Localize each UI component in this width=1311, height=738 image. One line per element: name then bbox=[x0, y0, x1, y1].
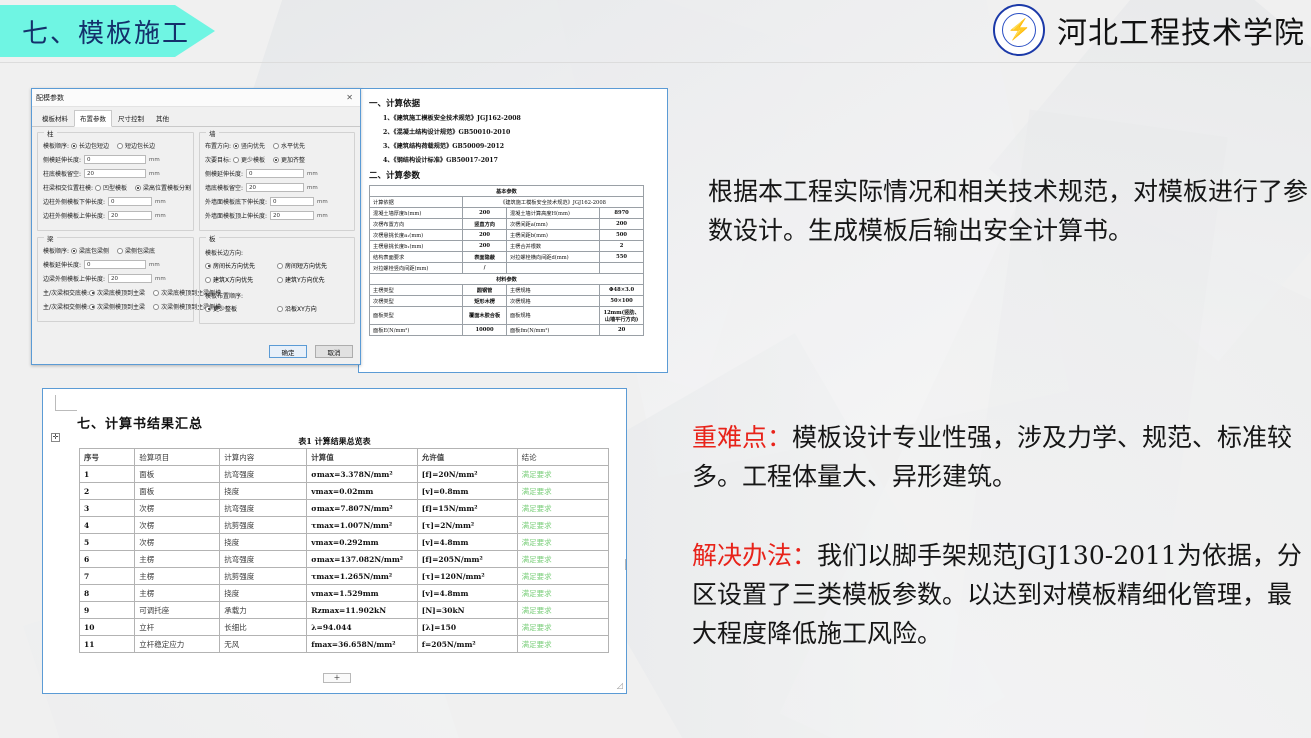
results-summary-table: 序号 验算项目 计算内容 计算值 允许值 结论 1 面板 抗弯强度 σmax=3… bbox=[79, 448, 609, 653]
param-value: 12mm(竖肋、山墙平行方向) bbox=[600, 307, 644, 325]
unit-mm: mm bbox=[307, 185, 318, 191]
unit-mm: mm bbox=[155, 213, 166, 219]
column-group-caption: 柱 bbox=[44, 128, 57, 138]
cell-calc: τmax=1.265N/mm² bbox=[307, 568, 417, 585]
param-key: 主楞规格 bbox=[506, 285, 599, 296]
param-key: 主楞悬挑长度b₁(mm) bbox=[370, 241, 463, 252]
calculation-document-panel[interactable]: 一、计算依据 1、《建筑施工模板安全技术规范》JGJ162-2008 2、《混凝… bbox=[358, 88, 668, 373]
param-key: 次楞类型 bbox=[370, 296, 463, 307]
radio-dot-icon bbox=[233, 143, 239, 149]
difficulty-label: 重难点： bbox=[692, 423, 792, 452]
radio-dot-icon bbox=[273, 157, 279, 163]
wall-bottom-gap-input[interactable]: 20 bbox=[246, 183, 304, 192]
note-paragraph-3: 解决办法：我们以脚手架规范JGJ130-2011为依据，分区设置了三类模板参数。… bbox=[692, 536, 1310, 653]
cell-no: 5 bbox=[80, 534, 135, 551]
beam-bottom-relation-row: 主/次梁相交底模: 次梁底模顶到主梁 次梁底模顶到主梁侧模 bbox=[43, 288, 188, 297]
close-icon[interactable]: ✕ bbox=[343, 93, 356, 102]
radio-more-aligned[interactable]: 更加齐整 bbox=[273, 155, 305, 164]
cell-no: 8 bbox=[80, 585, 135, 602]
summary-heading: 七、计算书结果汇总 bbox=[77, 413, 604, 432]
wall-group-caption: 墙 bbox=[206, 128, 219, 138]
cell-allow: [v]=0.8mm bbox=[417, 483, 517, 500]
param-key: 结构表面要求 bbox=[370, 252, 463, 263]
radio-concave-template[interactable]: 凹型模板 bbox=[95, 183, 127, 192]
column-beam-joint-label: 柱梁相交位置柱模: bbox=[43, 183, 93, 192]
edge-beam-up-label: 边梁外侧模板上伸长度: bbox=[43, 274, 105, 283]
cell-calc: λ=94.044 bbox=[307, 619, 417, 636]
cell-no: 7 bbox=[80, 568, 135, 585]
radio-dot-icon bbox=[277, 263, 283, 269]
param-value: 2 bbox=[600, 241, 644, 252]
radio-fewer-whole-panels[interactable]: 更少整板 bbox=[205, 304, 277, 313]
param-value: 8970 bbox=[600, 208, 644, 219]
cell-content: 长细比 bbox=[220, 619, 307, 636]
radio-short-wraps-long[interactable]: 短边包长边 bbox=[117, 141, 155, 150]
calc-params-heading: 二、计算参数 bbox=[369, 169, 657, 181]
wall-secondary-goal-row: 次要目标: 更少模板 更加齐整 bbox=[205, 155, 349, 164]
cell-allow: [f]=20N/mm² bbox=[417, 466, 517, 483]
cell-content: 挠度 bbox=[220, 585, 307, 602]
section-title-banner: 七、模板施工 bbox=[0, 5, 215, 57]
wall-side-extend-row: 侧模延伸长度: 0 mm bbox=[205, 169, 349, 178]
cell-conclusion: 满足要求 bbox=[517, 551, 608, 568]
cell-item: 面板 bbox=[135, 483, 220, 500]
exterior-wall-up-row: 外墙面模板顶上伸长度: 20 mm bbox=[205, 211, 349, 220]
table-row: 主楞悬挑长度b₁(mm) 200 主楞合并根数 2 bbox=[370, 241, 644, 252]
col-header-item: 验算项目 bbox=[135, 449, 220, 466]
cell-allow: [N]=30kN bbox=[417, 602, 517, 619]
table-row: 计算依据 《建筑施工模板安全技术规范》JGJ162-2008 bbox=[370, 197, 644, 208]
column-bottom-gap-row: 柱底模板留空: 20 mm bbox=[43, 169, 188, 178]
radio-room-short-first[interactable]: 房间短方向优先 bbox=[277, 261, 349, 270]
solution-label: 解决办法： bbox=[692, 541, 817, 570]
param-value: 矩形木楞 bbox=[463, 296, 507, 307]
cell-item: 面板 bbox=[135, 466, 220, 483]
cell-item: 主楞 bbox=[135, 585, 220, 602]
radio-dot-icon bbox=[71, 248, 77, 254]
beam-order-label: 模板顺序: bbox=[43, 246, 69, 255]
slab-order-options[interactable]: 更少整板 沿板XY方向 bbox=[205, 304, 349, 318]
cell-content: 抗弯强度 bbox=[220, 551, 307, 568]
param-key: 面板E(N/mm²) bbox=[370, 325, 463, 336]
ok-button[interactable]: 确定 bbox=[269, 345, 307, 358]
calc-basis-heading: 一、计算依据 bbox=[369, 97, 657, 109]
param-key: 对拉螺栓横向间距d(mm) bbox=[506, 252, 599, 263]
param-value: 550 bbox=[600, 252, 644, 263]
cell-no: 11 bbox=[80, 636, 135, 653]
beam-bottom-relation-label: 主/次梁相交底模: bbox=[43, 288, 89, 297]
calc-basis-item: 4、《钢结构设计标准》GB50017-2017 bbox=[383, 155, 657, 164]
beam-extend-input[interactable]: 0 bbox=[84, 260, 146, 269]
cell-no: 3 bbox=[80, 500, 135, 517]
column-group: 柱 模板顺序: 长边包短边 短边包长边 侧模延伸长度: 0 mm 柱底模板留空:… bbox=[37, 132, 194, 231]
edge-column-up-input[interactable]: 20 bbox=[108, 211, 152, 220]
cell-conclusion: 满足要求 bbox=[517, 500, 608, 517]
note-paragraph-2: 重难点：模板设计专业性强，涉及力学、规范、标准较多。工程体量大、异形建筑。 bbox=[692, 418, 1310, 496]
cell-allow: f=205N/mm² bbox=[417, 636, 517, 653]
column-beam-joint-row: 柱梁相交位置柱模: 凹型模板 梁高位置模板分割 bbox=[43, 183, 188, 192]
page-corner-mark bbox=[55, 395, 77, 411]
cell-conclusion: 满足要求 bbox=[517, 636, 608, 653]
table-row: 次楞布置方向 竖直方向 次楞间距a(mm) 200 bbox=[370, 219, 644, 230]
radio-along-slab-xy[interactable]: 沿板XY方向 bbox=[277, 304, 349, 313]
table-row: 主楞类型 圆钢管 主楞规格 Φ48×3.0 bbox=[370, 285, 644, 296]
column-side-extend-label: 侧模延伸长度: bbox=[43, 155, 81, 164]
cell-conclusion: 满足要求 bbox=[517, 619, 608, 636]
col-header-conclusion: 结论 bbox=[517, 449, 608, 466]
radio-dot-icon bbox=[117, 143, 123, 149]
table-row: 9 可调托座 承载力 Rzmax=11.902kN [N]=30kN 满足要求 bbox=[80, 602, 609, 619]
table-row: 6 主楞 抗弯强度 σmax=137.082N/mm² [f]=205N/mm²… bbox=[80, 551, 609, 568]
table-row: 混凝土墙厚度h(mm) 200 混凝土墙计算高度H(mm) 8970 bbox=[370, 208, 644, 219]
col-header-calc: 计算值 bbox=[307, 449, 417, 466]
cell-conclusion: 满足要求 bbox=[517, 466, 608, 483]
col-header-content: 计算内容 bbox=[220, 449, 307, 466]
column-order-label: 模板顺序: bbox=[43, 141, 69, 150]
param-key: 面板fm(N/mm²) bbox=[506, 325, 599, 336]
table-row: 次楞悬挑长度a₁(mm) 200 主楞间距b(mm) 500 bbox=[370, 230, 644, 241]
param-value: 圆钢管 bbox=[463, 285, 507, 296]
radio-side-wraps-bottom[interactable]: 梁侧包梁底 bbox=[117, 246, 155, 255]
param-value bbox=[600, 263, 644, 274]
param-key: 对拉螺栓竖向间距(mm) bbox=[370, 263, 463, 274]
beam-group: 梁 模板顺序: 梁底包梁侧 梁侧包梁底 模板延伸长度: 0 mm 边梁外侧模板上… bbox=[37, 237, 194, 322]
table-row: 基本参数 bbox=[370, 186, 644, 197]
beam-extend-row: 模板延伸长度: 0 mm bbox=[43, 260, 188, 269]
param-key: 混凝土墙计算高度H(mm) bbox=[506, 208, 599, 219]
wall-secondary-goal-label: 次要目标: bbox=[205, 155, 231, 164]
cell-item: 立杆稳定应力 bbox=[135, 636, 220, 653]
radio-dot-icon bbox=[205, 277, 211, 283]
cell-item: 可调托座 bbox=[135, 602, 220, 619]
slab-direction-options[interactable]: 房间长方向优先 房间短方向优先 建筑X方向优先 建筑Y方向优先 bbox=[205, 261, 349, 289]
param-key: 主楞合并根数 bbox=[506, 241, 599, 252]
table-row: 3 次楞 抗弯强度 σmax=7.807N/mm² [f]=15N/mm² 满足… bbox=[80, 500, 609, 517]
exterior-wall-down-input[interactable]: 0 bbox=[270, 197, 314, 206]
column-side-extend-row: 侧模延伸长度: 0 mm bbox=[43, 155, 188, 164]
exterior-wall-up-input[interactable]: 20 bbox=[270, 211, 314, 220]
wall-side-extend-input[interactable]: 0 bbox=[246, 169, 304, 178]
unit-mm: mm bbox=[149, 157, 160, 163]
cell-no: 10 bbox=[80, 619, 135, 636]
table-row: 1 面板 抗弯强度 σmax=3.378N/mm² [f]=20N/mm² 满足… bbox=[80, 466, 609, 483]
column-bottom-gap-label: 柱底模板留空: bbox=[43, 169, 81, 178]
param-value: Φ48×3.0 bbox=[600, 285, 644, 296]
param-key: 主楞类型 bbox=[370, 285, 463, 296]
edge-column-up-row: 边柱外侧模板上伸长度: 20 mm bbox=[43, 211, 188, 220]
radio-building-y-first[interactable]: 建筑Y方向优先 bbox=[277, 275, 349, 284]
wall-bottom-gap-label: 墙底模板留空: bbox=[205, 183, 243, 192]
tab-dimension-control[interactable]: 尺寸控制 bbox=[112, 110, 150, 126]
col-header-allow: 允许值 bbox=[417, 449, 517, 466]
cell-allow: [τ]=120N/mm² bbox=[417, 568, 517, 585]
radio-dot-icon bbox=[273, 143, 279, 149]
table-row: 结构表面要求 表面隐蔽 对拉螺栓横向间距d(mm) 550 bbox=[370, 252, 644, 263]
param-key: 次楞间距a(mm) bbox=[506, 219, 599, 230]
radio-sec-side-to-main[interactable]: 次梁侧模顶到主梁 bbox=[89, 302, 145, 311]
tab-other[interactable]: 其他 bbox=[150, 110, 175, 126]
cell-item: 次楞 bbox=[135, 500, 220, 517]
table-row: 材料参数 bbox=[370, 274, 644, 285]
table-move-handle-icon[interactable]: ✛ bbox=[51, 433, 60, 442]
unit-mm: mm bbox=[155, 199, 166, 205]
summary-document-panel[interactable]: 七、计算书结果汇总 表1 计算结果总览表 ✛ 序号 验算项目 计算内容 计算值 … bbox=[42, 388, 627, 694]
tab-template-material[interactable]: 模板材料 bbox=[36, 110, 74, 126]
cell-calc: τmax=1.007N/mm² bbox=[307, 517, 417, 534]
summary-inner: 七、计算书结果汇总 表1 计算结果总览表 ✛ 序号 验算项目 计算内容 计算值 … bbox=[43, 389, 626, 653]
cell-calc: σmax=7.807N/mm² bbox=[307, 500, 417, 517]
radio-dot-icon bbox=[95, 185, 101, 191]
radio-dot-icon bbox=[205, 306, 211, 312]
table-row: 8 主楞 挠度 vmax=1.529mm [v]=4.8mm 满足要求 bbox=[80, 585, 609, 602]
calculation-parameters-table: 基本参数 计算依据 《建筑施工模板安全技术规范》JGJ162-2008 混凝土墙… bbox=[369, 185, 644, 336]
radio-long-wraps-short[interactable]: 长边包短边 bbox=[71, 141, 109, 150]
cell-content: 无风 bbox=[220, 636, 307, 653]
cell-calc: vmax=0.02mm bbox=[307, 483, 417, 500]
calc-basis-item: 2、《混凝土结构设计规范》GB50010-2010 bbox=[383, 127, 657, 136]
cell-item: 次楞 bbox=[135, 517, 220, 534]
slab-group: 板 模板长边方向: 房间长方向优先 房间短方向优先 建筑X方向优先 建筑Y方向优… bbox=[199, 237, 355, 324]
param-value: 500 bbox=[600, 230, 644, 241]
radio-dot-icon bbox=[117, 248, 123, 254]
param-key: 混凝土墙厚度h(mm) bbox=[370, 208, 463, 219]
cell-conclusion: 满足要求 bbox=[517, 483, 608, 500]
basis-key: 计算依据 bbox=[370, 197, 463, 208]
cell-conclusion: 满足要求 bbox=[517, 585, 608, 602]
cell-no: 9 bbox=[80, 602, 135, 619]
section-material-params: 材料参数 bbox=[370, 274, 644, 285]
edge-column-up-label: 边柱外侧模板上伸长度: bbox=[43, 211, 105, 220]
cell-calc: fmax=36.658N/mm² bbox=[307, 636, 417, 653]
param-value: 200 bbox=[463, 208, 507, 219]
param-key bbox=[506, 263, 599, 274]
calc-basis-item: 3、《建筑结构荷载规范》GB50009-2012 bbox=[383, 141, 657, 150]
cell-calc: vmax=1.529mm bbox=[307, 585, 417, 602]
calc-basis-item: 1、《建筑施工模板安全技术规范》JGJ162-2008 bbox=[383, 113, 657, 122]
dialog-tabs[interactable]: 模板材料 布置参数 尺寸控制 其他 bbox=[32, 107, 360, 127]
param-value: / bbox=[463, 263, 507, 274]
radio-dot-icon bbox=[135, 185, 141, 191]
cell-allow: [τ]=2N/mm² bbox=[417, 517, 517, 534]
beam-side-relation-row: 主/次梁相交侧模: 次梁侧模顶到主梁 次梁侧模顶到主梁侧模 bbox=[43, 302, 188, 311]
cell-content: 挠度 bbox=[220, 534, 307, 551]
formwork-parameters-dialog[interactable]: 配模参数 ✕ 模板材料 布置参数 尺寸控制 其他 柱 模板顺序: 长边包短边 短… bbox=[31, 88, 361, 365]
edge-column-down-label: 边柱外侧模板下伸长度: bbox=[43, 197, 105, 206]
param-key: 面板规格 bbox=[506, 307, 599, 325]
radio-bottom-wraps-side[interactable]: 梁底包梁侧 bbox=[71, 246, 109, 255]
cell-no: 4 bbox=[80, 517, 135, 534]
cell-allow: [f]=205N/mm² bbox=[417, 551, 517, 568]
cell-allow: [λ]=150 bbox=[417, 619, 517, 636]
unit-mm: mm bbox=[317, 199, 328, 205]
param-value: 200 bbox=[463, 241, 507, 252]
page-title: 七、模板施工 bbox=[0, 13, 190, 50]
unit-mm: mm bbox=[317, 213, 328, 219]
unit-mm: mm bbox=[307, 171, 318, 177]
cell-no: 6 bbox=[80, 551, 135, 568]
slab-long-edge-label: 模板长边方向: bbox=[205, 248, 349, 257]
cell-allow: [f]=15N/mm² bbox=[417, 500, 517, 517]
table-caption: 表1 计算结果总览表 bbox=[65, 436, 604, 447]
wall-direction-row: 布置方向: 竖向优先 水平优先 bbox=[205, 141, 349, 150]
table-header-row: 序号 验算项目 计算内容 计算值 允许值 结论 bbox=[80, 449, 609, 466]
section-basic-params: 基本参数 bbox=[370, 186, 644, 197]
param-key: 次楞规格 bbox=[506, 296, 599, 307]
cell-conclusion: 满足要求 bbox=[517, 517, 608, 534]
cell-calc: σmax=3.378N/mm² bbox=[307, 466, 417, 483]
radio-dot-icon bbox=[89, 304, 95, 310]
param-value: 50×100 bbox=[600, 296, 644, 307]
param-value: 竖直方向 bbox=[463, 219, 507, 230]
cell-content: 抗弯强度 bbox=[220, 466, 307, 483]
cell-content: 抗剪强度 bbox=[220, 568, 307, 585]
cell-no: 1 bbox=[80, 466, 135, 483]
param-key: 次楞布置方向 bbox=[370, 219, 463, 230]
cell-content: 抗弯强度 bbox=[220, 500, 307, 517]
radio-dot-icon bbox=[153, 304, 159, 310]
wall-side-extend-label: 侧模延伸长度: bbox=[205, 169, 243, 178]
tab-layout-parameters[interactable]: 布置参数 bbox=[74, 110, 112, 127]
cell-item: 主楞 bbox=[135, 551, 220, 568]
column-order-row: 模板顺序: 长边包短边 短边包长边 bbox=[43, 141, 188, 150]
dialog-title: 配模参数 bbox=[36, 93, 64, 103]
param-key: 主楞间距b(mm) bbox=[506, 230, 599, 241]
radio-dot-icon bbox=[205, 263, 211, 269]
dialog-buttons[interactable]: 确定 取消 bbox=[269, 345, 353, 358]
param-value: 覆面木胶合板 bbox=[463, 307, 507, 325]
exterior-wall-up-label: 外墙面模板顶上伸长度: bbox=[205, 211, 267, 220]
cell-item: 立杆 bbox=[135, 619, 220, 636]
cell-conclusion: 满足要求 bbox=[517, 568, 608, 585]
table-row: 7 主楞 抗剪强度 τmax=1.265N/mm² [τ]=120N/mm² 满… bbox=[80, 568, 609, 585]
add-row-button[interactable]: + bbox=[323, 673, 351, 683]
radio-vertical-first[interactable]: 竖向优先 bbox=[233, 141, 265, 150]
radio-sec-bottom-to-main[interactable]: 次梁底模顶到主梁 bbox=[89, 288, 145, 297]
cell-content: 抗剪强度 bbox=[220, 517, 307, 534]
edge-beam-up-input[interactable]: 20 bbox=[108, 274, 152, 283]
dialog-right-column: 墙 布置方向: 竖向优先 水平优先 次要目标: 更少模板 更加齐整 侧模延伸长度… bbox=[199, 132, 355, 330]
beam-order-row: 模板顺序: 梁底包梁侧 梁侧包梁底 bbox=[43, 246, 188, 255]
unit-mm: mm bbox=[149, 171, 160, 177]
cell-content: 挠度 bbox=[220, 483, 307, 500]
cell-conclusion: 满足要求 bbox=[517, 534, 608, 551]
table-row: 4 次楞 抗剪强度 τmax=1.007N/mm² [τ]=2N/mm² 满足要… bbox=[80, 517, 609, 534]
cell-no: 2 bbox=[80, 483, 135, 500]
notes-column: 根据本工程实际情况和相关技术规范，对模板进行了参数设计。生成模板后输出安全计算书… bbox=[684, 0, 1311, 738]
cell-allow: [v]=4.8mm bbox=[417, 585, 517, 602]
column-side-extend-input[interactable]: 0 bbox=[84, 155, 146, 164]
note-paragraph-1: 根据本工程实际情况和相关技术规范，对模板进行了参数设计。生成模板后输出安全计算书… bbox=[708, 172, 1308, 250]
slab-order-label: 模板布置顺序: bbox=[205, 291, 349, 300]
radio-horizontal-first[interactable]: 水平优先 bbox=[273, 141, 305, 150]
basis-value: 《建筑施工模板安全技术规范》JGJ162-2008 bbox=[463, 197, 644, 208]
dialog-titlebar[interactable]: 配模参数 ✕ bbox=[32, 89, 360, 107]
col-header-no: 序号 bbox=[80, 449, 135, 466]
edge-beam-up-row: 边梁外侧模板上伸长度: 20 mm bbox=[43, 274, 188, 283]
radio-dot-icon bbox=[153, 290, 159, 296]
beam-extend-label: 模板延伸长度: bbox=[43, 260, 81, 269]
wall-group: 墙 布置方向: 竖向优先 水平优先 次要目标: 更少模板 更加齐整 侧模延伸长度… bbox=[199, 132, 355, 231]
table-row: 10 立杆 长细比 λ=94.044 [λ]=150 满足要求 bbox=[80, 619, 609, 636]
radio-dot-icon bbox=[277, 277, 283, 283]
table-row: 面板类型 覆面木胶合板 面板规格 12mm(竖肋、山墙平行方向) bbox=[370, 307, 644, 325]
cell-item: 次楞 bbox=[135, 534, 220, 551]
radio-dot-icon bbox=[71, 143, 77, 149]
param-key: 次楞悬挑长度a₁(mm) bbox=[370, 230, 463, 241]
param-value: 10000 bbox=[463, 325, 507, 336]
cell-conclusion: 满足要求 bbox=[517, 602, 608, 619]
cell-item: 主楞 bbox=[135, 568, 220, 585]
param-value: 20 bbox=[600, 325, 644, 336]
radio-dot-icon bbox=[89, 290, 95, 296]
radio-fewer-panels[interactable]: 更少模板 bbox=[233, 155, 265, 164]
exterior-wall-down-label: 外墙面模板底下伸长度: bbox=[205, 197, 267, 206]
radio-dot-icon bbox=[277, 306, 283, 312]
unit-mm: mm bbox=[155, 276, 166, 282]
slab-group-caption: 板 bbox=[206, 233, 219, 243]
cell-calc: σmax=137.082N/mm² bbox=[307, 551, 417, 568]
radio-building-x-first[interactable]: 建筑X方向优先 bbox=[205, 275, 277, 284]
cell-calc: vmax=0.292mm bbox=[307, 534, 417, 551]
edge-column-down-input[interactable]: 0 bbox=[108, 197, 152, 206]
cell-calc: Rzmax=11.902kN bbox=[307, 602, 417, 619]
param-value: 表面隐蔽 bbox=[463, 252, 507, 263]
table-row: 面板E(N/mm²) 10000 面板fm(N/mm²) 20 bbox=[370, 325, 644, 336]
table-row: 次楞类型 矩形木楞 次楞规格 50×100 bbox=[370, 296, 644, 307]
table-row: 5 次楞 挠度 vmax=0.292mm [v]=4.8mm 满足要求 bbox=[80, 534, 609, 551]
radio-room-long-first[interactable]: 房间长方向优先 bbox=[205, 261, 277, 270]
resize-grip-icon[interactable]: ◿ bbox=[617, 681, 623, 690]
cancel-button[interactable]: 取消 bbox=[315, 345, 353, 358]
table-row: 11 立杆稳定应力 无风 fmax=36.658N/mm² f=205N/mm²… bbox=[80, 636, 609, 653]
cell-allow: [v]=4.8mm bbox=[417, 534, 517, 551]
exterior-wall-down-row: 外墙面模板底下伸长度: 0 mm bbox=[205, 197, 349, 206]
wall-direction-label: 布置方向: bbox=[205, 141, 231, 150]
table-row: 2 面板 挠度 vmax=0.02mm [v]=0.8mm 满足要求 bbox=[80, 483, 609, 500]
table-row: 对拉螺栓竖向间距(mm) / bbox=[370, 263, 644, 274]
radio-dot-icon bbox=[233, 157, 239, 163]
radio-split-at-beam-height[interactable]: 梁高位置模板分割 bbox=[135, 183, 191, 192]
param-value: 200 bbox=[600, 219, 644, 230]
unit-mm: mm bbox=[149, 262, 160, 268]
add-column-button[interactable]: + bbox=[625, 559, 627, 570]
beam-group-caption: 梁 bbox=[44, 233, 57, 243]
param-value: 200 bbox=[463, 230, 507, 241]
dialog-body: 柱 模板顺序: 长边包短边 短边包长边 侧模延伸长度: 0 mm 柱底模板留空:… bbox=[32, 127, 360, 330]
column-bottom-gap-input[interactable]: 20 bbox=[84, 169, 146, 178]
cell-content: 承载力 bbox=[220, 602, 307, 619]
wall-bottom-gap-row: 墙底模板留空: 20 mm bbox=[205, 183, 349, 192]
edge-column-down-row: 边柱外侧模板下伸长度: 0 mm bbox=[43, 197, 188, 206]
beam-side-relation-label: 主/次梁相交侧模: bbox=[43, 302, 89, 311]
dialog-left-column: 柱 模板顺序: 长边包短边 短边包长边 侧模延伸长度: 0 mm 柱底模板留空:… bbox=[37, 132, 194, 330]
param-key: 面板类型 bbox=[370, 307, 463, 325]
